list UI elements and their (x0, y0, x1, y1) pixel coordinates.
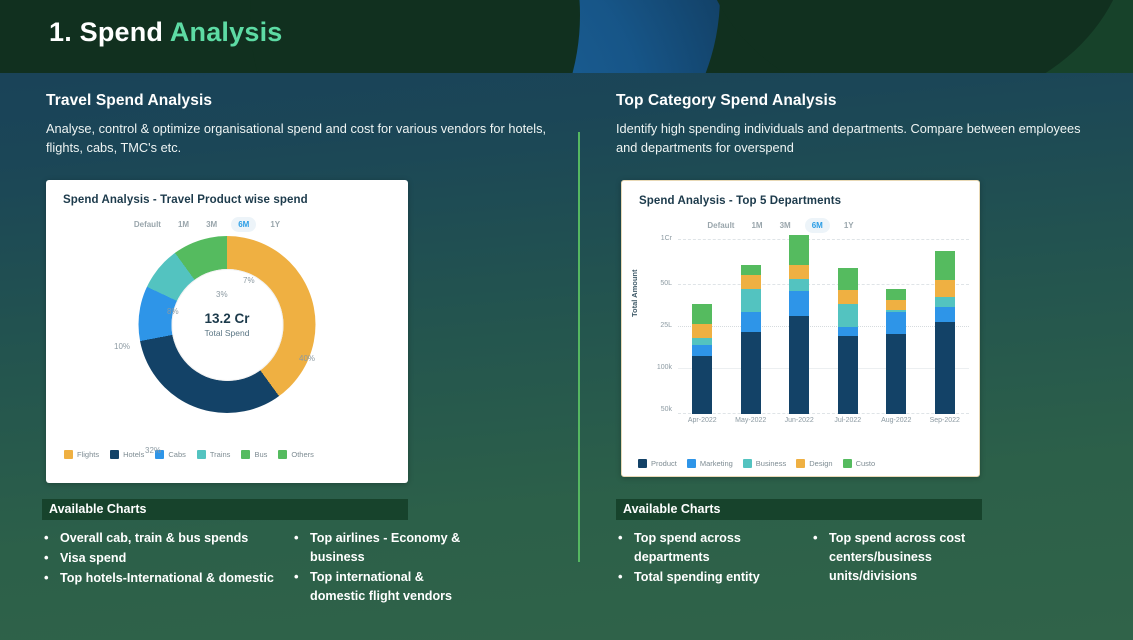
left-column: Travel Spend Analysis Analyse, control &… (46, 92, 566, 158)
bar-legend-item-design[interactable]: Design (796, 459, 832, 468)
bar-legend-item-business[interactable]: Business (743, 459, 786, 468)
bar-segment-marketing[interactable] (838, 327, 858, 336)
bar-range-tab-1m[interactable]: 1M (748, 219, 765, 232)
right-section-description: Identify high spending individuals and d… (616, 119, 1096, 158)
bar-range-tab-3m[interactable]: 3M (777, 219, 794, 232)
bar-range-tab-default[interactable]: Default (704, 219, 737, 232)
y-tick-1cr: 1Cr (634, 235, 672, 242)
bar-legend-swatch-business (743, 459, 752, 468)
legend-swatch-flights (64, 450, 73, 459)
donut-label-hotels: 32% (145, 446, 161, 455)
legend-item-bus[interactable]: Bus (241, 450, 267, 459)
list-item: Top spend across cost centers/business u… (811, 529, 996, 586)
legend-label-bus: Bus (254, 450, 267, 459)
bar-card-title: Spend Analysis - Top 5 Departments (622, 181, 979, 207)
bar-segment-design[interactable] (789, 265, 809, 279)
bar-segment-design[interactable] (741, 275, 761, 289)
x-tick-sep: Sep-2022 (925, 417, 965, 424)
bar-jul-2022[interactable] (838, 268, 858, 414)
bar-legend-item-custo[interactable]: Custo (843, 459, 876, 468)
bar-segment-business[interactable] (789, 279, 809, 291)
bar-apr-2022[interactable] (692, 304, 712, 414)
range-tab-3m[interactable]: 3M (203, 218, 220, 231)
bar-segment-product[interactable] (886, 334, 906, 414)
right-section-title: Top Category Spend Analysis (616, 92, 1096, 110)
legend-label-others: Others (291, 450, 314, 459)
donut-legend: Flights Hotels Cabs Trains Bus Others (46, 450, 408, 459)
legend-item-flights[interactable]: Flights (64, 450, 99, 459)
bar-legend-swatch-custo (843, 459, 852, 468)
bar-segment-custo[interactable] (789, 235, 809, 265)
bar-segment-business[interactable] (741, 289, 761, 312)
donut-ring[interactable]: 13.2 Cr Total Spend (139, 236, 316, 413)
right-column: Top Category Spend Analysis Identify hig… (616, 92, 1096, 158)
right-available-list-1: Top spend across departments Total spend… (616, 529, 811, 588)
list-item: Top airlines - Economy & business (292, 529, 482, 567)
bar-range-tabs[interactable]: Default 1M 3M 6M 1Y (622, 218, 979, 233)
bar-segment-product[interactable] (692, 356, 712, 414)
donut-label-trains: 8% (167, 307, 179, 316)
column-divider (578, 132, 580, 562)
left-available-list-1: Overall cab, train & bus spends Visa spe… (42, 529, 292, 607)
legend-swatch-hotels (110, 450, 119, 459)
bar-sep-2022[interactable] (935, 251, 955, 414)
bar-legend-label-marketing: Marketing (700, 459, 733, 468)
bar-segment-business[interactable] (838, 304, 858, 327)
bar-segment-product[interactable] (935, 322, 955, 414)
legend-label-cabs: Cabs (168, 450, 186, 459)
bar-series-container (678, 239, 969, 414)
bar-legend-item-marketing[interactable]: Marketing (687, 459, 733, 468)
top-departments-card: Spend Analysis - Top 5 Departments Defau… (621, 180, 980, 477)
y-tick-50l: 50L (634, 280, 672, 287)
bar-range-tab-1y[interactable]: 1Y (841, 219, 857, 232)
donut-label-bus: 3% (216, 290, 228, 299)
x-axis-ticks: Apr-2022 May-2022 Jun-2022 Jul-2022 Aug-… (678, 417, 969, 424)
bar-segment-business[interactable] (692, 338, 712, 345)
legend-swatch-others (278, 450, 287, 459)
bar-segment-product[interactable] (789, 316, 809, 414)
left-available-charts-columns: Overall cab, train & bus spends Visa spe… (42, 529, 502, 607)
page-title: 1. Spend Analysis (49, 17, 283, 48)
bar-legend-swatch-product (638, 459, 647, 468)
bar-segment-design[interactable] (838, 290, 858, 304)
bar-aug-2022[interactable] (886, 289, 906, 414)
bar-legend-swatch-marketing (687, 459, 696, 468)
bar-segment-product[interactable] (838, 336, 858, 414)
bar-legend-label-design: Design (809, 459, 832, 468)
donut-label-cabs: 10% (114, 342, 130, 351)
bar-segment-custo[interactable] (935, 251, 955, 280)
bar-segment-custo[interactable] (692, 304, 712, 324)
x-tick-jun: Jun-2022 (779, 417, 819, 424)
header-blue-arc-mask (250, 0, 580, 73)
bar-segment-design[interactable] (692, 324, 712, 338)
donut-center: 13.2 Cr Total Spend (171, 269, 283, 381)
range-tab-6m[interactable]: 6M (231, 217, 256, 232)
legend-label-trains: Trains (210, 450, 231, 459)
donut-total-label: Total Spend (205, 328, 250, 338)
bar-legend-label-custo: Custo (856, 459, 876, 468)
left-available-charts: Available Charts Overall cab, train & bu… (42, 499, 502, 607)
slide-root: 1. Spend Analysis Travel Spend Analysis … (0, 0, 1133, 640)
bar-legend-item-product[interactable]: Product (638, 459, 677, 468)
bar-plot-area (678, 239, 969, 414)
bar-segment-marketing[interactable] (692, 345, 712, 356)
bar-segment-marketing[interactable] (789, 291, 809, 316)
range-tab-default[interactable]: Default (131, 218, 164, 231)
legend-swatch-bus (241, 450, 250, 459)
stacked-bar-chart: Total Amount 1Cr 50L 25L 100k 50k Apr-20… (622, 239, 981, 439)
list-item: Overall cab, train & bus spends (42, 529, 292, 548)
x-tick-jul: Jul-2022 (828, 417, 868, 424)
bar-segment-business[interactable] (935, 297, 955, 307)
left-section-description: Analyse, control & optimize organisation… (46, 119, 566, 158)
bar-segment-marketing[interactable] (886, 312, 906, 334)
legend-item-hotels[interactable]: Hotels (110, 450, 144, 459)
range-tab-1m[interactable]: 1M (175, 218, 192, 231)
left-available-charts-header: Available Charts (42, 499, 408, 520)
legend-label-flights: Flights (77, 450, 99, 459)
y-tick-50k: 50k (634, 406, 672, 413)
list-item: Top spend across departments (616, 529, 811, 567)
right-available-charts-columns: Top spend across departments Total spend… (616, 529, 1016, 588)
x-tick-may: May-2022 (731, 417, 771, 424)
list-item: Top hotels-International & domestic (42, 569, 292, 588)
donut-label-others: 7% (243, 276, 255, 285)
x-tick-aug: Aug-2022 (876, 417, 916, 424)
list-item: Top international & domestic flight vend… (292, 568, 482, 606)
page-title-accent: Analysis (170, 17, 283, 47)
legend-swatch-trains (197, 450, 206, 459)
page-title-number: 1. Spend (49, 17, 163, 47)
x-tick-apr: Apr-2022 (682, 417, 722, 424)
y-axis-ticks: 1Cr 50L 25L 100k 50k (634, 239, 672, 414)
donut-card-title: Spend Analysis - Travel Product wise spe… (46, 180, 408, 206)
legend-label-hotels: Hotels (123, 450, 144, 459)
bar-segment-design[interactable] (886, 300, 906, 310)
bar-may-2022[interactable] (741, 265, 761, 414)
range-tab-1y[interactable]: 1Y (267, 218, 283, 231)
y-tick-25l: 25L (634, 322, 672, 329)
bar-legend-label-product: Product (651, 459, 677, 468)
left-section-title: Travel Spend Analysis (46, 92, 566, 110)
legend-item-others[interactable]: Others (278, 450, 314, 459)
bar-segment-marketing[interactable] (741, 312, 761, 332)
y-tick-100k: 100k (634, 364, 672, 371)
list-item: Visa spend (42, 549, 292, 568)
bar-segment-custo[interactable] (741, 265, 761, 275)
right-available-list-2: Top spend across cost centers/business u… (811, 529, 996, 588)
bar-segment-product[interactable] (741, 332, 761, 414)
bar-segment-custo[interactable] (838, 268, 858, 290)
bar-segment-custo[interactable] (886, 289, 906, 300)
bar-segment-marketing[interactable] (935, 307, 955, 322)
bar-range-tab-6m[interactable]: 6M (805, 218, 830, 233)
travel-product-spend-card: Spend Analysis - Travel Product wise spe… (46, 180, 408, 483)
right-available-charts-header: Available Charts (616, 499, 982, 520)
donut-label-flights: 40% (299, 354, 315, 363)
donut-total-value: 13.2 Cr (204, 311, 249, 326)
bar-segment-design[interactable] (935, 280, 955, 297)
left-available-list-2: Top airlines - Economy & business Top in… (292, 529, 482, 607)
bar-legend-label-business: Business (756, 459, 786, 468)
bar-jun-2022[interactable] (789, 235, 809, 414)
legend-item-trains[interactable]: Trains (197, 450, 231, 459)
donut-chart: 13.2 Cr Total Spend 40% 32% 10% 8% 3% 7% (46, 236, 408, 436)
bar-legend-swatch-design (796, 459, 805, 468)
right-available-charts: Available Charts Top spend across depart… (616, 499, 1016, 588)
bar-legend: Product Marketing Business Design Custo (622, 459, 979, 468)
donut-range-tabs[interactable]: Default 1M 3M 6M 1Y (46, 217, 408, 232)
list-item: Total spending entity (616, 568, 811, 587)
